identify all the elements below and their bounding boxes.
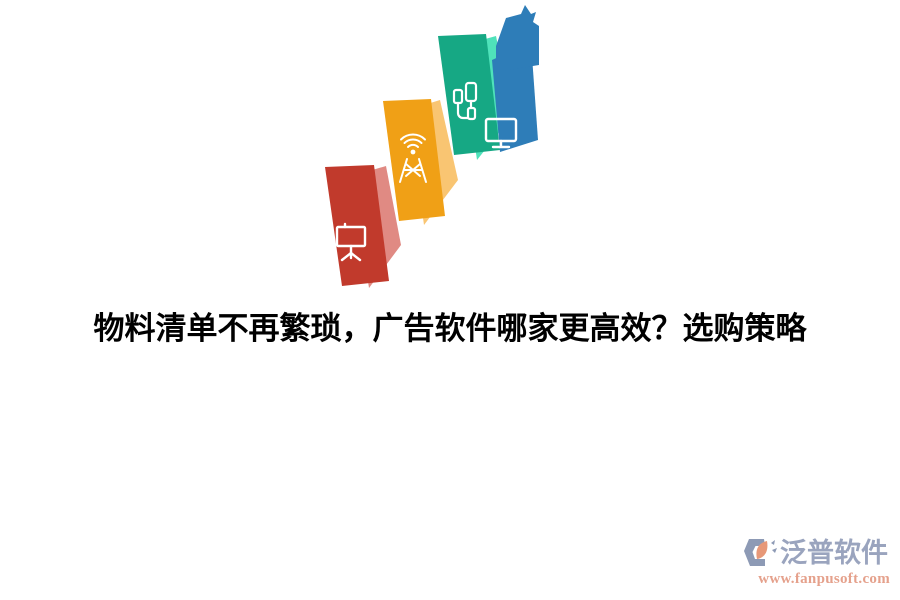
article-title: 物料清单不再繁琐，广告软件哪家更高效？选购策略 xyxy=(0,306,900,352)
brand-logo-row: 泛普软件 xyxy=(744,536,892,570)
arrow-head-blue xyxy=(496,5,539,72)
brand-logo-watermark[interactable]: 泛普软件 www.fanpusoft.com xyxy=(744,536,892,592)
brand-wordmark: 泛普软件 xyxy=(780,537,888,569)
fanpu-swoosh-logo-icon xyxy=(744,537,778,569)
brand-url: www.fanpusoft.com xyxy=(744,570,892,588)
page-root: 物料清单不再繁琐，广告软件哪家更高效？选购策略 泛普软件 www.fanpuso… xyxy=(0,0,900,600)
ascending-arrow-chart-illustration xyxy=(300,0,560,300)
